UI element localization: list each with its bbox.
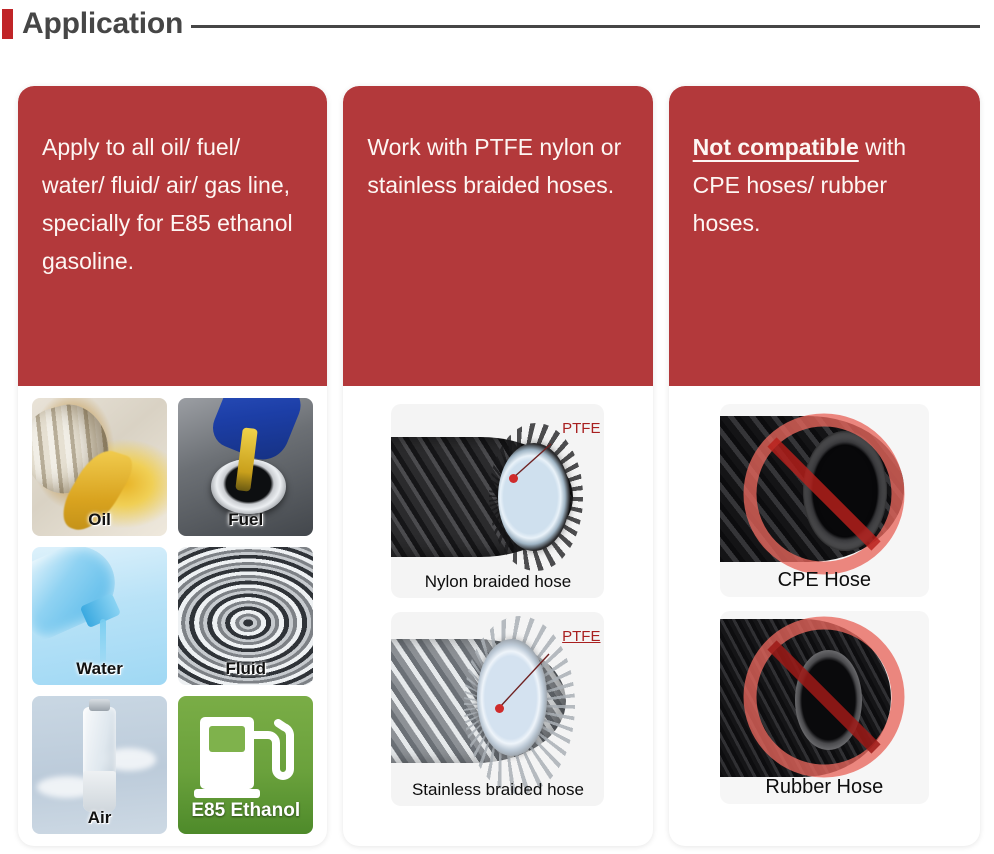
header-accent-bar bbox=[2, 9, 13, 39]
tile-label-water: Water bbox=[32, 659, 167, 679]
fuel-pump-icon bbox=[192, 711, 300, 803]
tile-label-e85-ethanol: E85 Ethanol bbox=[178, 800, 313, 822]
compatible-hose-panels: PTFE Nylon braided hose PTFE Stainless b… bbox=[355, 396, 640, 806]
card-applications: Apply to all oil/ fuel/ water/ fluid/ ai… bbox=[18, 86, 327, 846]
card-body-compatible: PTFE Nylon braided hose PTFE Stainless b… bbox=[343, 386, 652, 846]
incompatible-hose-panels: CPE Hose Rubber Hose bbox=[681, 396, 968, 804]
tile-oil[interactable]: Oil bbox=[32, 398, 167, 536]
tile-fuel[interactable]: Fuel bbox=[178, 398, 313, 536]
banner-incompatible: Not compatible with CPE hoses/ rubber ho… bbox=[669, 86, 980, 386]
panel-stainless-braided-hose[interactable]: PTFE Stainless braided hose bbox=[391, 612, 604, 806]
caption-rubber-hose: Rubber Hose bbox=[720, 776, 929, 799]
banner-emphasis-not-compatible: Not compatible bbox=[693, 134, 859, 160]
tile-e85-ethanol[interactable]: E85 Ethanol bbox=[178, 696, 313, 834]
panel-rubber-hose[interactable]: Rubber Hose bbox=[720, 611, 929, 804]
card-body-applications: Oil Fuel Water bbox=[18, 386, 327, 846]
tile-label-fluid: Fluid bbox=[178, 659, 313, 679]
page-title: Application bbox=[22, 9, 183, 39]
card-incompatible-hoses: Not compatible with CPE hoses/ rubber ho… bbox=[669, 86, 980, 846]
banner-text-applications: Apply to all oil/ fuel/ water/ fluid/ ai… bbox=[42, 128, 303, 280]
card-compatible-hoses: Work with PTFE nylon or stainless braide… bbox=[343, 86, 652, 846]
ptfe-callout-label: PTFE bbox=[562, 628, 600, 645]
caption-cpe-hose: CPE Hose bbox=[720, 569, 929, 592]
panel-nylon-braided-hose[interactable]: PTFE Nylon braided hose bbox=[391, 404, 604, 598]
tile-label-fuel: Fuel bbox=[178, 510, 313, 530]
tile-fluid[interactable]: Fluid bbox=[178, 547, 313, 685]
application-tile-grid: Oil Fuel Water bbox=[30, 396, 315, 834]
card-body-incompatible: CPE Hose Rubber Hose bbox=[669, 386, 980, 846]
banner-applications: Apply to all oil/ fuel/ water/ fluid/ ai… bbox=[18, 86, 327, 386]
section-header: Application bbox=[0, 0, 994, 48]
tile-label-oil: Oil bbox=[32, 510, 167, 530]
ptfe-callout-label: PTFE bbox=[562, 420, 600, 437]
banner-compatible: Work with PTFE nylon or stainless braide… bbox=[343, 86, 652, 386]
banner-text-incompatible: Not compatible with CPE hoses/ rubber ho… bbox=[693, 128, 956, 242]
header-divider bbox=[191, 25, 980, 28]
panel-cpe-hose[interactable]: CPE Hose bbox=[720, 404, 929, 597]
caption-stainless-braided-hose: Stainless braided hose bbox=[391, 780, 604, 800]
tile-label-air: Air bbox=[32, 808, 167, 828]
application-columns: Apply to all oil/ fuel/ water/ fluid/ ai… bbox=[18, 86, 980, 846]
tile-air[interactable]: Air bbox=[32, 696, 167, 834]
caption-nylon-braided-hose: Nylon braided hose bbox=[391, 572, 604, 592]
application-section: Application Apply to all oil/ fuel/ wate… bbox=[0, 0, 994, 854]
banner-text-compatible: Work with PTFE nylon or stainless braide… bbox=[367, 128, 628, 204]
tile-water[interactable]: Water bbox=[32, 547, 167, 685]
